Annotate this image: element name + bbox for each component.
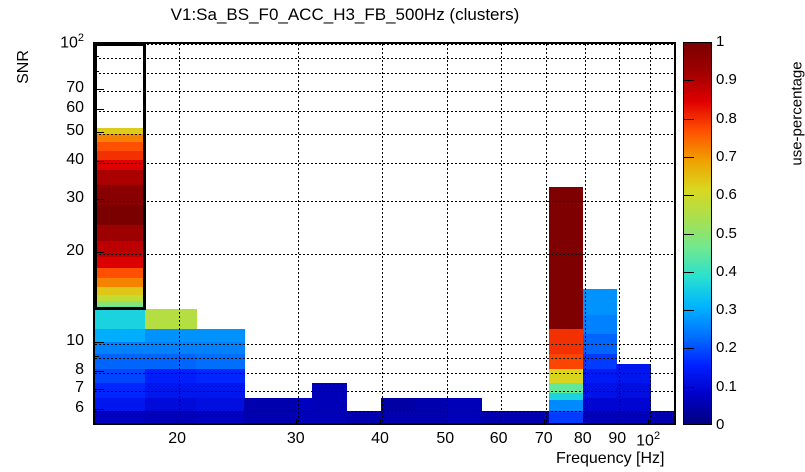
- x-axis-title: Frequency [Hz]: [556, 450, 664, 468]
- x-axis-tick: [648, 419, 649, 425]
- colorbar-tick: [683, 310, 694, 311]
- heatmap-cell: [616, 364, 650, 384]
- heatmap-cell: [583, 289, 617, 316]
- heatmap-cell: [95, 329, 146, 342]
- y-axis-tick: [93, 132, 104, 133]
- y-axis-label: 60: [40, 99, 84, 117]
- y-axis-tick: [93, 56, 99, 57]
- heatmap-cell: [196, 383, 245, 399]
- y-axis-tick: [93, 161, 104, 162]
- heatmap-cell: [95, 309, 146, 330]
- colorbar-label: 0.3: [716, 301, 737, 318]
- heatmap-cell: [549, 187, 583, 310]
- heatmap-cell: [145, 309, 197, 330]
- heatmap-cell: [549, 411, 583, 425]
- y-axis-label: 102: [40, 32, 84, 52]
- heatmap-cell: [296, 398, 313, 411]
- x-axis-tick: [296, 419, 297, 425]
- colorbar-tick: [683, 80, 694, 81]
- colorbar-tick: [683, 348, 694, 349]
- colorbar-label: 0.5: [716, 225, 737, 242]
- colorbar-tick: [683, 157, 694, 158]
- heatmap-cell: [549, 400, 583, 411]
- heatmap-cell: [244, 398, 296, 411]
- x-axis-tick: [499, 419, 500, 425]
- y-axis-label: 40: [40, 151, 84, 169]
- y-axis-tick: [93, 342, 104, 343]
- y-axis-label: 8: [40, 361, 84, 379]
- colorbar-tick: [683, 119, 694, 120]
- heatmap-cell: [95, 383, 146, 399]
- heatmap-cell: [346, 411, 381, 425]
- heatmap-cell: [583, 354, 617, 369]
- y-axis-label: 20: [40, 242, 84, 260]
- heatmap-cell: [312, 398, 347, 411]
- heatmap-cell: [244, 411, 296, 425]
- heatmap-cell: [312, 411, 347, 425]
- colorbar-label: 0.2: [716, 339, 737, 356]
- x-axis-label: 102: [628, 430, 668, 450]
- heatmap-cell: [616, 383, 650, 399]
- colorbar-label: 0.1: [716, 378, 737, 395]
- heatmap-cell: [145, 411, 197, 425]
- heatmap-cell: [448, 398, 482, 411]
- colorbar-label: 0: [716, 416, 724, 433]
- y-axis-tick: [93, 389, 104, 390]
- heatmap-cell: [145, 398, 197, 411]
- heatmap-cell: [448, 411, 482, 425]
- heatmap-cell: [145, 354, 197, 369]
- heatmap-cell: [616, 411, 650, 425]
- colorbar-tick: [683, 195, 694, 196]
- y-axis-tick: [93, 199, 104, 200]
- page-title: V1:Sa_BS_F0_ACC_H3_FB_500Hz (clusters): [0, 5, 690, 25]
- heatmap-cell: [95, 411, 146, 425]
- y-axis-label: 10: [40, 332, 84, 350]
- y-axis-label: 50: [40, 122, 84, 140]
- heatmap-cell: [381, 411, 416, 425]
- y-axis-label: 70: [40, 79, 84, 97]
- plot-frame: [93, 42, 676, 425]
- heatmap-cell: [549, 369, 583, 385]
- heatmap-cell: [549, 329, 583, 354]
- x-axis-label: 70: [524, 430, 564, 448]
- y-axis-label: 30: [40, 189, 84, 207]
- heatmap-cell: [145, 342, 197, 355]
- heatmap-cell: [196, 411, 245, 425]
- colorbar-label: 0.6: [716, 186, 737, 203]
- x-axis-label: 50: [425, 430, 465, 448]
- colorbar-label: 0.7: [716, 148, 737, 165]
- x-axis-label: 40: [360, 430, 400, 448]
- x-axis-tick: [544, 419, 545, 425]
- y-axis-tick: [93, 252, 104, 253]
- heatmap-cell: [583, 315, 617, 335]
- y-axis-title: SNR: [15, 37, 33, 97]
- heatmap-cell: [196, 329, 245, 342]
- heatmap-cell: [583, 411, 617, 425]
- heatmap-cell: [583, 334, 617, 354]
- x-axis-label: 30: [276, 430, 316, 448]
- y-axis-label: 7: [40, 379, 84, 397]
- heatmap-cell: [616, 398, 650, 411]
- x-axis-tick: [380, 419, 381, 425]
- y-axis-tick: [93, 409, 104, 410]
- colorbar-tick: [683, 234, 694, 235]
- y-axis-tick: [93, 356, 99, 357]
- heatmap-cell: [196, 342, 245, 355]
- heatmap-cell: [583, 369, 617, 385]
- colorbar-title: use-percentage: [789, 39, 805, 189]
- y-axis-tick: [93, 42, 104, 43]
- colorbar-label: 0.4: [716, 263, 737, 280]
- x-axis-tick: [177, 419, 178, 425]
- heatmap-cell: [196, 398, 245, 411]
- x-axis-tick: [583, 419, 584, 425]
- heatmap-cells: [95, 44, 674, 423]
- heatmap-cell: [583, 383, 617, 399]
- x-axis-tick: [617, 419, 618, 425]
- y-axis-tick: [93, 89, 104, 90]
- heatmap-cell: [415, 411, 449, 425]
- heatmap-cell: [196, 354, 245, 369]
- y-axis-tick: [93, 109, 104, 110]
- colorbar-label: 0.8: [716, 110, 737, 127]
- heatmap-cell: [381, 398, 416, 411]
- heatmap-cell: [312, 383, 347, 399]
- heatmap-cell: [145, 329, 197, 342]
- heatmap-cell: [549, 354, 583, 369]
- x-axis-label: 60: [479, 430, 519, 448]
- cluster-highlight-box: [94, 43, 146, 310]
- x-axis-label: 20: [157, 430, 197, 448]
- heatmap-cell: [196, 369, 245, 385]
- heatmap-cell: [145, 369, 197, 385]
- plot-canvas: V1:Sa_BS_F0_ACC_H3_FB_500Hz (clusters) S…: [0, 0, 805, 472]
- x-axis-tick: [445, 419, 446, 425]
- heatmap-cell: [145, 383, 197, 399]
- colorbar-tick: [683, 272, 694, 273]
- heatmap-cell: [95, 354, 146, 369]
- colorbar-tick: [683, 387, 694, 388]
- heatmap-cell: [583, 398, 617, 411]
- colorbar-label: 1: [716, 33, 724, 50]
- heatmap-cell: [95, 342, 146, 355]
- heatmap-cell: [650, 411, 676, 425]
- colorbar-label: 0.9: [716, 71, 737, 88]
- y-axis-label: 6: [40, 399, 84, 417]
- y-axis-tick: [93, 71, 99, 72]
- heatmap-cell: [296, 411, 313, 425]
- y-axis-tick: [93, 371, 104, 372]
- heatmap-cell: [415, 398, 449, 411]
- heatmap-cell: [549, 309, 583, 330]
